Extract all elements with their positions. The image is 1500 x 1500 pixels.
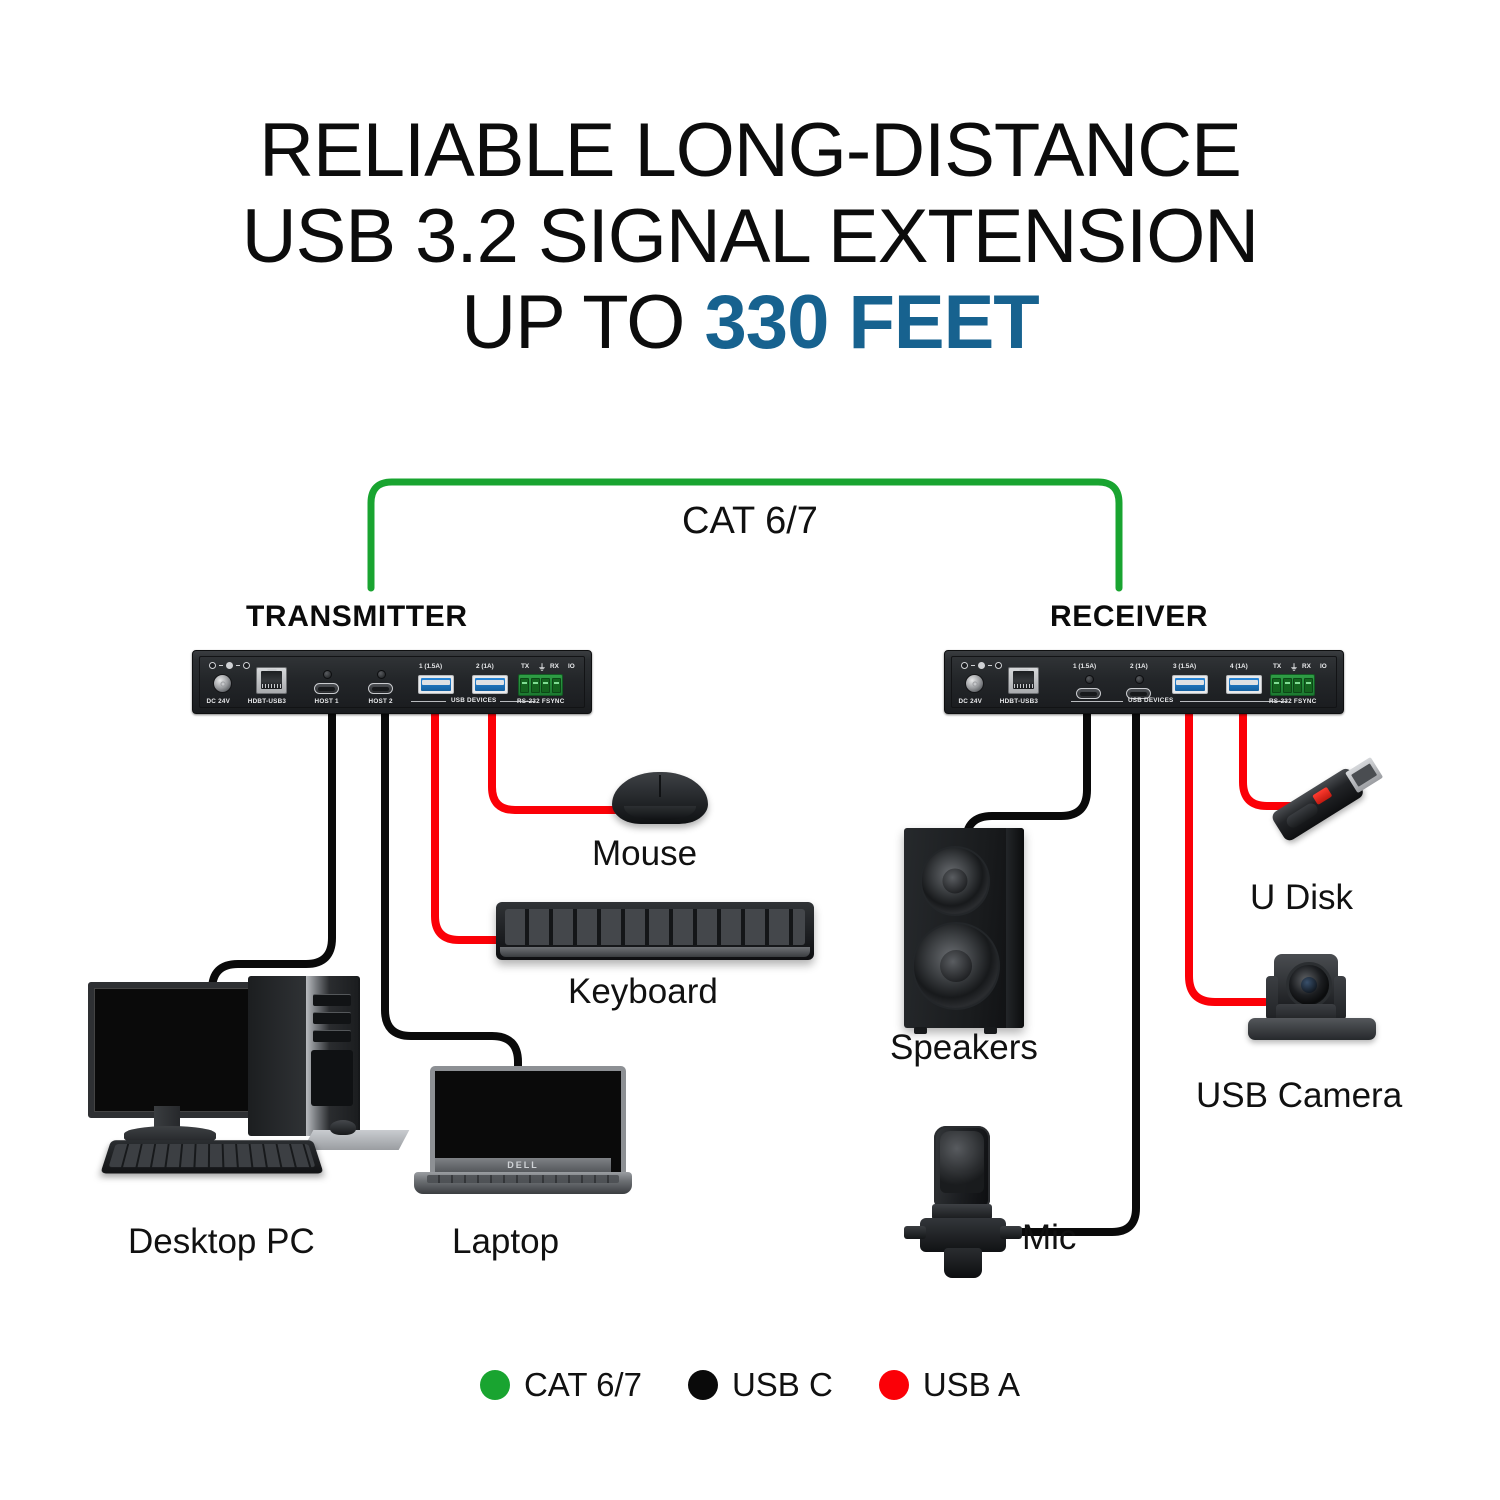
legend-swatch-usbc-icon bbox=[688, 1370, 718, 1400]
legend-label-cat67: CAT 6/7 bbox=[524, 1366, 642, 1404]
rx-label-hdbt: HDBT-USB3 bbox=[1000, 698, 1038, 705]
rx-label-usb-group: USB DEVICES bbox=[1128, 697, 1174, 704]
legend-item-cat67: CAT 6/7 bbox=[480, 1366, 642, 1404]
cable-rx-usbc2-to-mic bbox=[1012, 712, 1136, 1232]
rx-usb-a-port-3[interactable] bbox=[1172, 675, 1208, 694]
rx-label-usb3: 3 (1.5A) bbox=[1173, 663, 1196, 670]
cat67-cable-label: CAT 6/7 bbox=[0, 500, 1500, 543]
rx-usb-c-port-1[interactable] bbox=[1076, 688, 1101, 699]
legend-item-usba: USB A bbox=[879, 1366, 1020, 1404]
tx-label-serial: RS-232 FSYNC bbox=[517, 698, 565, 705]
laptop-brand: DELL bbox=[435, 1158, 611, 1172]
tx-label-usb-group: USB DEVICES bbox=[451, 697, 497, 704]
desktop-pc-image bbox=[80, 970, 400, 1200]
mic-image bbox=[898, 1126, 1028, 1278]
laptop-image: DELL bbox=[408, 1066, 638, 1206]
host1-led-icon bbox=[323, 670, 332, 679]
cable-usb1-to-keyboard bbox=[435, 712, 498, 940]
legend: CAT 6/7 USB C USB A bbox=[0, 1366, 1500, 1404]
desktop-pc-label: Desktop PC bbox=[128, 1222, 315, 1262]
rx-label-serial: RS-232 FSYNC bbox=[1269, 698, 1317, 705]
speakers-label: Speakers bbox=[890, 1028, 1038, 1068]
headline-line-1: RELIABLE LONG-DISTANCE bbox=[0, 108, 1500, 194]
transmitter-device[interactable]: DC 24V HDBT-USB3 HOST 1 HOST 2 1 (1.5A) … bbox=[192, 650, 592, 714]
tx-label-host2: HOST 2 bbox=[369, 698, 393, 705]
laptop-label: Laptop bbox=[452, 1222, 559, 1262]
usbc1-led-icon bbox=[1085, 675, 1094, 684]
keyboard-label: Keyboard bbox=[568, 972, 718, 1012]
legend-swatch-usba-icon bbox=[879, 1370, 909, 1400]
hdbt-rj45-port[interactable] bbox=[256, 667, 287, 694]
rx-label-serial-rx: RX bbox=[1302, 663, 1311, 670]
receiver-title: RECEIVER bbox=[1050, 600, 1208, 634]
mouse-image bbox=[612, 772, 708, 824]
host2-led-icon bbox=[377, 670, 386, 679]
tx-label-serial-io: IO bbox=[568, 663, 575, 670]
legend-swatch-cat67-icon bbox=[480, 1370, 510, 1400]
headline-line-2: USB 3.2 SIGNAL EXTENSION bbox=[0, 194, 1500, 280]
keyboard-image bbox=[496, 902, 814, 960]
mic-label: Mic bbox=[1022, 1218, 1076, 1258]
rx-label-usb1: 1 (1.5A) bbox=[1073, 663, 1096, 670]
ground-icon: ⏚ bbox=[1290, 662, 1298, 673]
tx-label-power: DC 24V bbox=[206, 698, 230, 705]
tx-label-serial-tx: TX bbox=[521, 663, 529, 670]
mouse-label: Mouse bbox=[592, 834, 697, 874]
hdbt-rj45-port[interactable] bbox=[1008, 667, 1039, 694]
tx-rs232-terminal-block[interactable] bbox=[518, 674, 563, 696]
rx-label-usb4: 4 (1A) bbox=[1230, 663, 1248, 670]
usbc2-led-icon bbox=[1135, 675, 1144, 684]
rx-label-power: DC 24V bbox=[958, 698, 982, 705]
page-title: RELIABLE LONG-DISTANCE USB 3.2 SIGNAL EX… bbox=[0, 108, 1500, 366]
tx-usb-a-port-1[interactable] bbox=[418, 675, 454, 694]
rx-label-serial-io: IO bbox=[1320, 663, 1327, 670]
tx-label-serial-rx: RX bbox=[550, 663, 559, 670]
dc-power-jack[interactable] bbox=[965, 674, 984, 693]
usb-camera-image bbox=[1248, 954, 1378, 1046]
rx-label-serial-tx: TX bbox=[1273, 663, 1281, 670]
cable-host1-to-desktop-pc bbox=[212, 712, 332, 1000]
u-disk-image bbox=[1270, 746, 1412, 866]
usb-camera-label: USB Camera bbox=[1196, 1076, 1402, 1116]
tx-usb-a-port-2[interactable] bbox=[472, 675, 508, 694]
legend-label-usbc: USB C bbox=[732, 1366, 833, 1404]
u-disk-label: U Disk bbox=[1250, 878, 1353, 918]
dc-power-jack[interactable] bbox=[213, 674, 232, 693]
transmitter-title: TRANSMITTER bbox=[246, 600, 468, 634]
rx-rs232-terminal-block[interactable] bbox=[1270, 674, 1315, 696]
headline-accent-distance: 330 FEET bbox=[705, 280, 1039, 365]
cable-rx-usb4-to-udisk bbox=[1243, 712, 1292, 806]
host1-usbc-port[interactable] bbox=[314, 683, 339, 694]
tx-label-usb1: 1 (1.5A) bbox=[419, 663, 442, 670]
speakers-image bbox=[904, 828, 1024, 1028]
power-indicator-icon bbox=[209, 662, 250, 669]
rx-label-usb2: 2 (1A) bbox=[1130, 663, 1148, 670]
diagram-canvas: RELIABLE LONG-DISTANCE USB 3.2 SIGNAL EX… bbox=[0, 0, 1500, 1500]
legend-item-usbc: USB C bbox=[688, 1366, 833, 1404]
headline-line-3: UP TO 330 FEET bbox=[0, 280, 1500, 366]
cable-host2-to-laptop bbox=[385, 712, 518, 1080]
legend-label-usba: USB A bbox=[923, 1366, 1020, 1404]
rx-usb-a-port-4[interactable] bbox=[1226, 675, 1262, 694]
headline-line-3-prefix: UP TO bbox=[461, 280, 704, 365]
cable-usb2-to-mouse bbox=[492, 712, 615, 810]
tx-label-usb2: 2 (1A) bbox=[476, 663, 494, 670]
power-indicator-icon bbox=[961, 662, 1002, 669]
host2-usbc-port[interactable] bbox=[368, 683, 393, 694]
ground-icon: ⏚ bbox=[538, 662, 546, 673]
receiver-device[interactable]: DC 24V HDBT-USB3 1 (1.5A) 2 (1A) 3 (1.5A… bbox=[944, 650, 1344, 714]
tx-label-hdbt: HDBT-USB3 bbox=[248, 698, 286, 705]
tx-label-host1: HOST 1 bbox=[315, 698, 339, 705]
